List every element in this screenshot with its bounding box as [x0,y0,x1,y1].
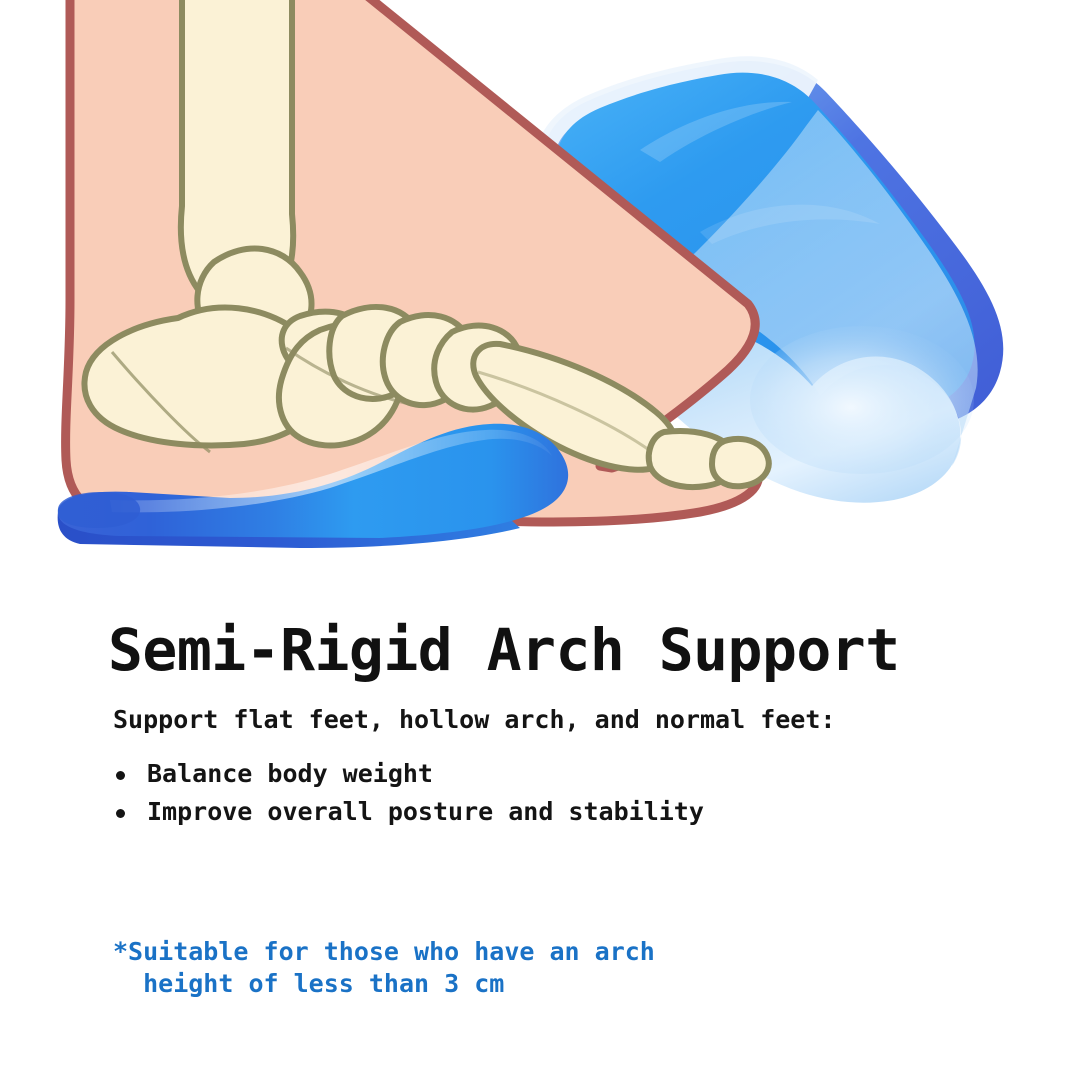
page-title: Semi-Rigid Arch Support [108,620,900,681]
benefit-list: Balance body weight Improve overall post… [113,758,704,833]
footnote: *Suitable for those who have an arch hei… [113,936,655,1000]
list-item: Balance body weight [113,758,704,790]
insole-product-bowl-glow [750,326,974,474]
bullet-dot-icon [116,771,125,780]
list-item: Improve overall posture and stability [113,796,704,828]
insole-profile-heel [58,492,140,528]
list-item-label: Improve overall posture and stability [147,797,704,826]
bullet-dot-icon [116,809,125,818]
list-item-label: Balance body weight [147,759,433,788]
product-infographic: Semi-Rigid Arch Support Support flat fee… [0,0,1080,1080]
illustration-area [0,0,1080,600]
subtitle: Support flat feet, hollow arch, and norm… [113,705,835,734]
bone-phalanx-distal [712,439,769,486]
